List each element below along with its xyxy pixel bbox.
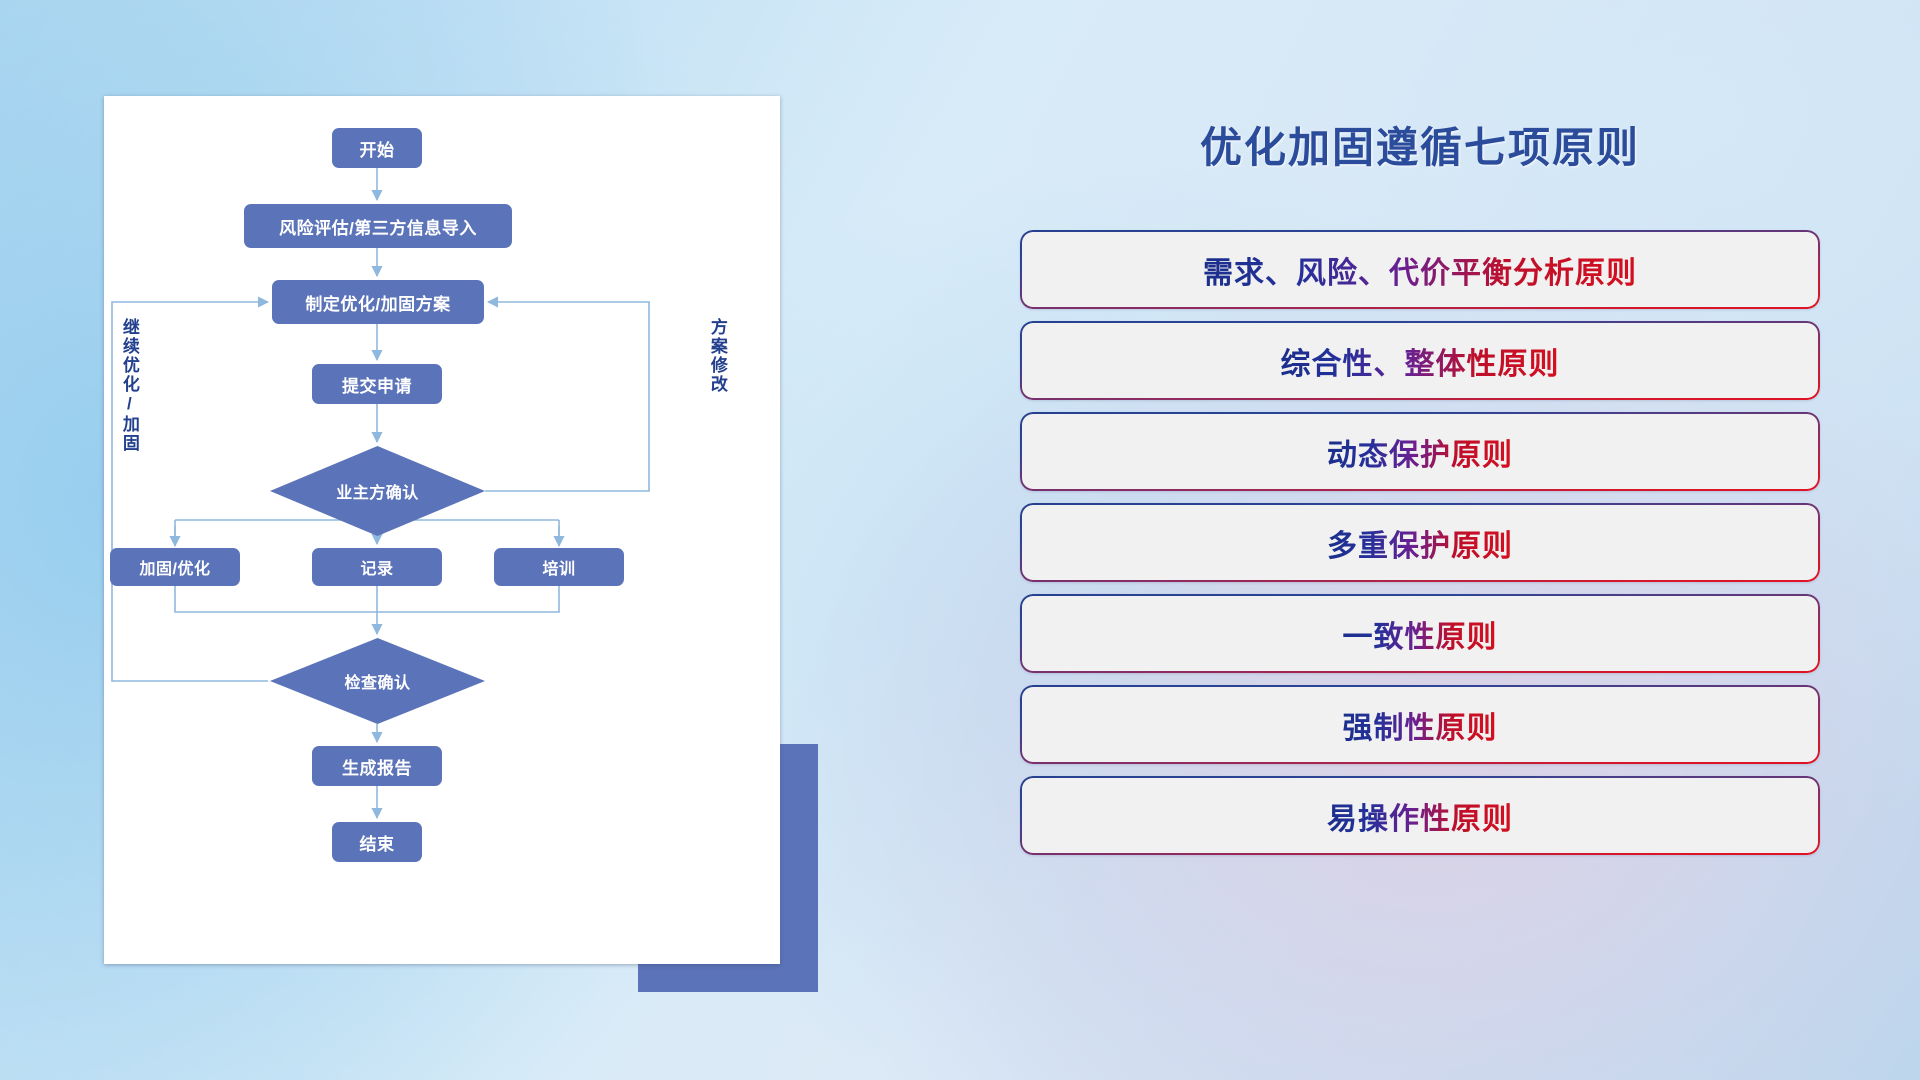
- principle-card[interactable]: 动态保护原则: [1020, 412, 1820, 491]
- principle-card[interactable]: 易操作性原则: [1020, 776, 1820, 855]
- principle-label: 多重保护原则: [1327, 521, 1513, 565]
- flow-node-submit-application[interactable]: 提交申请: [312, 364, 442, 404]
- flow-node-plan[interactable]: 制定优化/加固方案: [272, 280, 484, 324]
- principle-card[interactable]: 需求、风险、代价平衡分析原则: [1020, 230, 1820, 309]
- flow-node-training[interactable]: 培训: [494, 548, 624, 586]
- principles-panel: 优化加固遵循七项原则 需求、风险、代价平衡分析原则 综合性、整体性原则 动态保护…: [1020, 96, 1820, 996]
- panel-title: 优化加固遵循七项原则: [1020, 114, 1820, 175]
- flow-node-end[interactable]: 结束: [332, 822, 422, 862]
- flow-node-label: 加固/优化: [140, 555, 211, 579]
- flow-node-reinforce-optimize[interactable]: 加固/优化: [110, 548, 240, 586]
- principle-label: 综合性、整体性原则: [1281, 339, 1560, 383]
- flow-node-label: 业主方确认: [270, 446, 485, 536]
- principle-label: 一致性原则: [1343, 612, 1498, 656]
- principles-list: 需求、风险、代价平衡分析原则 综合性、整体性原则 动态保护原则 多重保护原则 一…: [1020, 230, 1820, 867]
- flow-node-label: 提交申请: [342, 372, 412, 397]
- principle-card[interactable]: 多重保护原则: [1020, 503, 1820, 582]
- flow-node-label: 风险评估/第三方信息导入: [279, 214, 477, 239]
- edge-label-continue-optimize: 继续优化/加固: [120, 318, 138, 453]
- flow-node-check-confirm[interactable]: 检查确认: [270, 638, 485, 724]
- slide-canvas: 开始 风险评估/第三方信息导入 制定优化/加固方案 提交申请 业主方确认 加固/…: [0, 0, 1920, 1080]
- flow-node-label: 记录: [360, 555, 393, 579]
- principle-label: 强制性原则: [1343, 703, 1498, 747]
- flowchart-card: 开始 风险评估/第三方信息导入 制定优化/加固方案 提交申请 业主方确认 加固/…: [104, 96, 780, 964]
- flow-node-label: 开始: [360, 136, 395, 161]
- flow-node-label: 结束: [360, 830, 395, 855]
- flow-node-label: 培训: [542, 555, 575, 579]
- principle-label: 需求、风险、代价平衡分析原则: [1203, 248, 1637, 292]
- flow-node-owner-confirm[interactable]: 业主方确认: [270, 446, 485, 536]
- principle-label: 动态保护原则: [1327, 430, 1513, 474]
- principle-card[interactable]: 一致性原则: [1020, 594, 1820, 673]
- flow-node-label: 制定优化/加固方案: [305, 290, 450, 315]
- principle-card[interactable]: 强制性原则: [1020, 685, 1820, 764]
- flow-node-label: 生成报告: [342, 754, 412, 779]
- flow-node-risk-assessment[interactable]: 风险评估/第三方信息导入: [244, 204, 512, 248]
- principle-card[interactable]: 综合性、整体性原则: [1020, 321, 1820, 400]
- flow-node-label: 检查确认: [270, 638, 485, 724]
- edge-label-plan-revise: 方案修改: [708, 318, 726, 394]
- principle-label: 易操作性原则: [1327, 794, 1513, 838]
- flow-node-record[interactable]: 记录: [312, 548, 442, 586]
- flow-node-start[interactable]: 开始: [332, 128, 422, 168]
- flow-node-generate-report[interactable]: 生成报告: [312, 746, 442, 786]
